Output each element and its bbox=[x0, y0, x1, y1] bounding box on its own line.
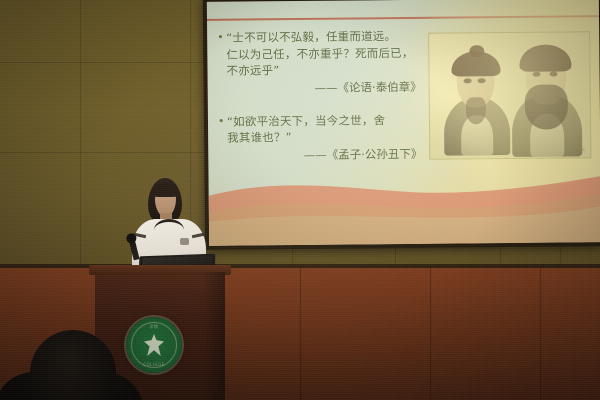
slide-text-body: • “士不可以不弘毅，任重而道远。 仁以为己任，不亦重乎？死而后已， 不亦远乎”… bbox=[217, 28, 426, 180]
projected-slide: • “士不可以不弘毅，任重而道远。 仁以为己任，不亦重乎？死而后已， 不亦远乎”… bbox=[207, 0, 600, 246]
confucian-sages-portrait: 图片 bbox=[428, 31, 591, 160]
quote-attribution: ——《论语·泰伯章》 bbox=[218, 78, 426, 97]
wainscot-seam bbox=[540, 268, 541, 400]
wainscot-seam bbox=[430, 268, 431, 400]
bullet-icon: • bbox=[217, 30, 226, 46]
quote-attribution: ——《孟子·公孙丑下》 bbox=[218, 145, 426, 164]
quote-text-line: “如欲平治天下，当今之世，舍 bbox=[227, 111, 426, 129]
quote-line: • “如欲平治天下，当今之世，舍 bbox=[218, 111, 426, 129]
sage-figure-right bbox=[511, 44, 582, 157]
quote-text-line: 不亦远乎” bbox=[226, 61, 425, 79]
shirt-logo bbox=[180, 238, 189, 245]
quote-block-1: • “士不可以不弘毅，任重而道远。 仁以为己任，不亦重乎？死而后已， 不亦远乎”… bbox=[217, 28, 426, 97]
topknot bbox=[470, 45, 485, 58]
quote-line: 不亦远乎” bbox=[217, 61, 425, 79]
lecture-hall-photo: • “士不可以不弘毅，任重而道远。 仁以为己任，不亦重乎？死而后已， 不亦远乎”… bbox=[0, 0, 600, 400]
slide-top-rule bbox=[207, 15, 599, 21]
quote-line: • “士不可以不弘毅，任重而道远。 bbox=[217, 28, 425, 46]
eye bbox=[549, 71, 557, 76]
eye bbox=[463, 78, 471, 83]
emblem-text-top: 学院 bbox=[126, 324, 182, 330]
projection-screen-frame: • “士不可以不弘毅，任重而道远。 仁以为己任，不亦重乎？死而后已， 不亦远乎”… bbox=[203, 0, 600, 250]
quote-text-line: “士不可以不弘毅，任重而道远。 bbox=[226, 28, 425, 46]
quote-line: 仁以为己任，不亦重乎？死而后已， bbox=[217, 44, 425, 62]
quote-text-line: 仁以为己任，不亦重乎？死而后已， bbox=[226, 44, 425, 62]
wall-seam-vertical bbox=[80, 0, 81, 272]
quote-text-line: 我其谁也？” bbox=[227, 128, 426, 146]
portrait-watermark: 图片 bbox=[575, 147, 586, 154]
quote-block-2: • “如欲平治天下，当今之世，舍 我其谁也？” ——《孟子·公孙丑下》 bbox=[218, 111, 426, 164]
eye bbox=[478, 78, 486, 83]
quote-line: 我其谁也？” bbox=[218, 128, 426, 146]
emblem-text-bottom: COLLEGE bbox=[126, 362, 182, 367]
institution-emblem: 学院 COLLEGE bbox=[126, 317, 182, 373]
sage-figure-left bbox=[443, 51, 510, 156]
beard bbox=[524, 85, 568, 130]
wainscot-seam bbox=[300, 268, 301, 400]
scholar-cap bbox=[520, 44, 572, 71]
bullet-icon: • bbox=[218, 113, 227, 129]
podium-shadow-side bbox=[203, 272, 225, 400]
